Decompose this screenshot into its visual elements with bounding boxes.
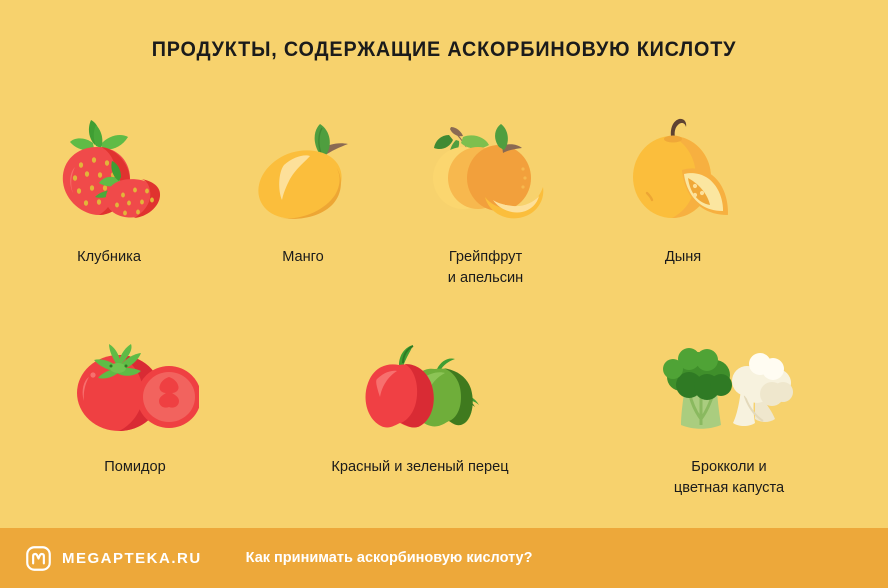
tomato-icon: [71, 325, 199, 435]
melon-icon: [624, 115, 742, 225]
food-grid: Клубника: [0, 62, 888, 528]
food-row-1: Клубника: [0, 115, 888, 289]
page-title: ПРОДУКТЫ, СОДЕРЖАЩИЕ АСКОРБИНОВУЮ КИСЛОТ…: [36, 37, 853, 62]
food-row-2: Помидор: [0, 325, 888, 499]
food-item-tomato: Помидор: [0, 325, 270, 499]
food-item-label: Брокколи и цветная капуста: [674, 457, 784, 499]
food-item-grapefruit-orange: Грейпфрут и апельсин: [388, 115, 583, 289]
food-item-mango: Манго: [218, 115, 388, 289]
broccoli-cauliflower-icon: [659, 325, 799, 435]
grapefruit-orange-icon: [423, 115, 549, 225]
food-item-broccoli-cauliflower: Брокколи и цветная капуста: [570, 325, 888, 499]
food-item-label: Красный и зеленый перец: [331, 457, 508, 478]
food-item-label: Манго: [282, 247, 324, 268]
footer-question-link[interactable]: Как принимать аскорбиновую кислоту?: [246, 550, 533, 566]
food-item-label: Грейпфрут и апельсин: [448, 247, 523, 289]
food-item-melon: Дыня: [583, 115, 783, 289]
food-item-label: Дыня: [665, 247, 701, 268]
food-item-label: Помидор: [104, 457, 166, 478]
mango-icon: [247, 115, 359, 225]
megapteka-m-logo-icon[interactable]: [26, 546, 51, 571]
footer-bar: MEGAPTEKA.RU Как принимать аскорбиновую …: [0, 528, 888, 588]
bell-peppers-icon: [355, 325, 485, 435]
food-item-strawberry: Клубника: [0, 115, 218, 289]
food-item-label: Клубника: [77, 247, 141, 268]
brand-name[interactable]: MEGAPTEKA.RU: [62, 550, 202, 567]
strawberry-icon: [49, 115, 169, 225]
food-item-bell-peppers: Красный и зеленый перец: [270, 325, 570, 499]
infographic-root: ПРОДУКТЫ, СОДЕРЖАЩИЕ АСКОРБИНОВУЮ КИСЛОТ…: [0, 0, 888, 588]
